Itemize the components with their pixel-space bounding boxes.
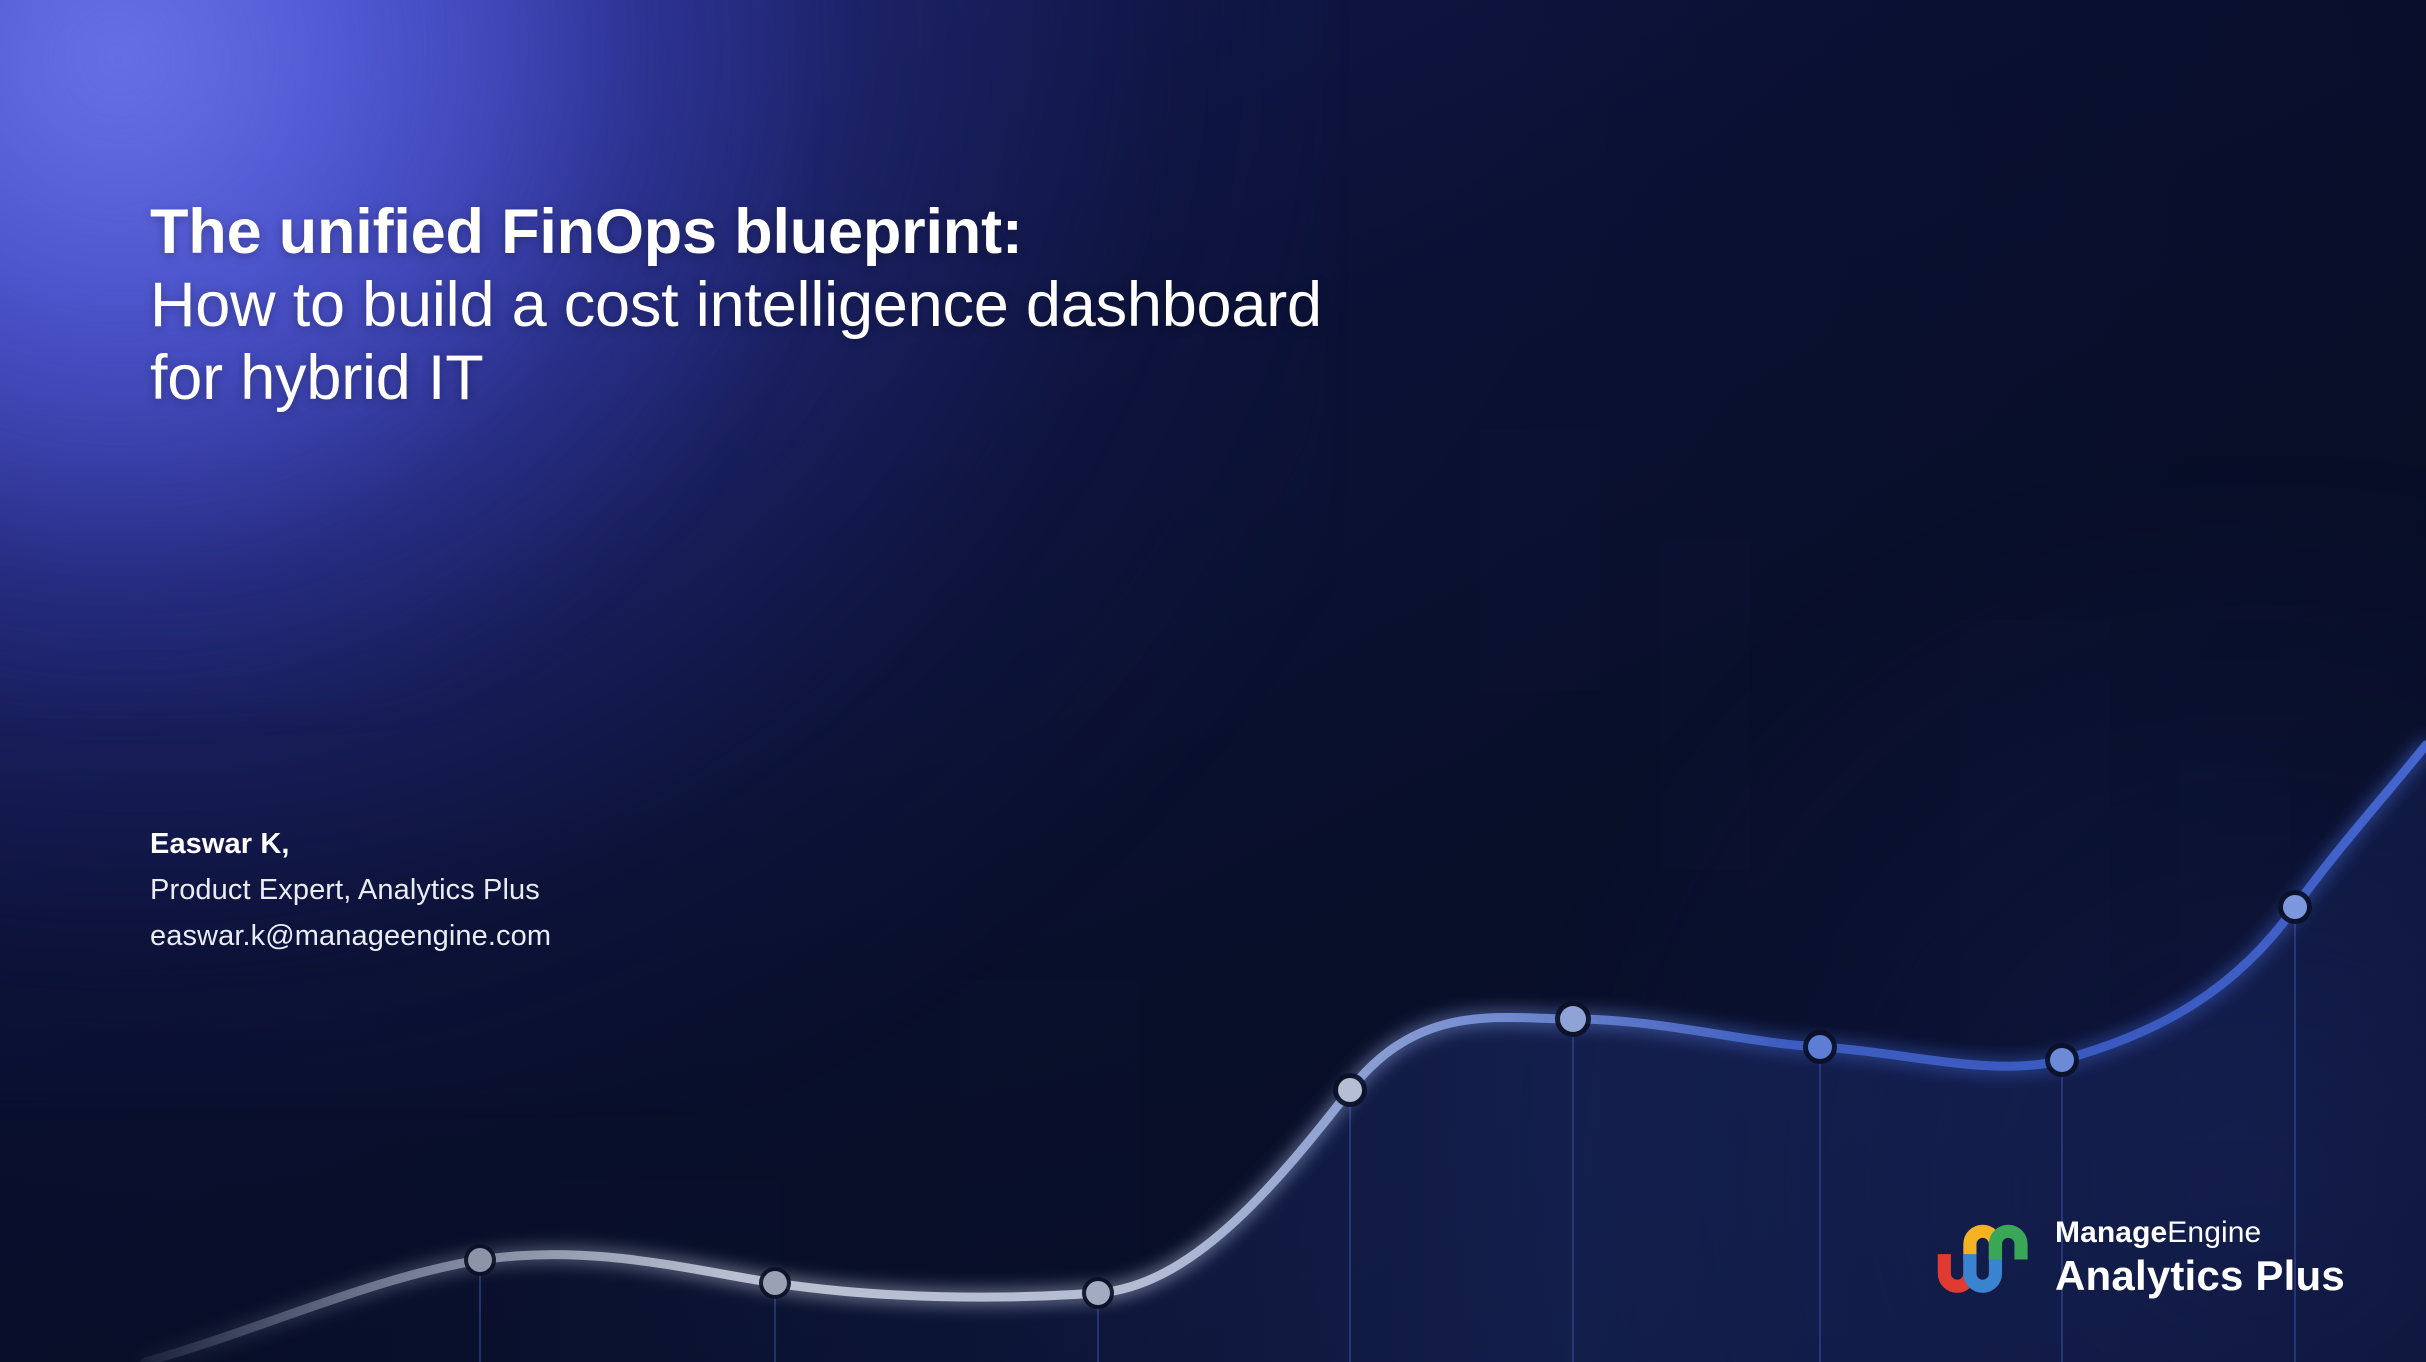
- title-line-3: for hybrid IT: [150, 342, 2050, 415]
- manageengine-wave-icon: [1937, 1219, 2033, 1297]
- slide-title: The unified FinOps blueprint: How to bui…: [150, 196, 2050, 414]
- brand-name-bold: Manage: [2055, 1216, 2167, 1249]
- presenter-email: easwar.k@manageengine.com: [150, 914, 551, 960]
- product-name: Analytics Plus: [2055, 1255, 2345, 1297]
- presenter-block: Easwar K, Product Expert, Analytics Plus…: [150, 822, 551, 959]
- brand-logo: ManageEngine Analytics Plus: [1937, 1218, 2345, 1297]
- title-slide: The unified FinOps blueprint: How to bui…: [0, 0, 2426, 1362]
- presenter-role: Product Expert, Analytics Plus: [150, 868, 551, 914]
- title-line-1: The unified FinOps blueprint:: [150, 196, 2050, 269]
- presenter-name: Easwar K,: [150, 822, 551, 868]
- brand-logo-text: ManageEngine Analytics Plus: [2055, 1218, 2345, 1297]
- title-line-2: How to build a cost intelligence dashboa…: [150, 269, 2050, 342]
- brand-name-light: Engine: [2167, 1216, 2261, 1249]
- brand-name: ManageEngine: [2055, 1218, 2345, 1248]
